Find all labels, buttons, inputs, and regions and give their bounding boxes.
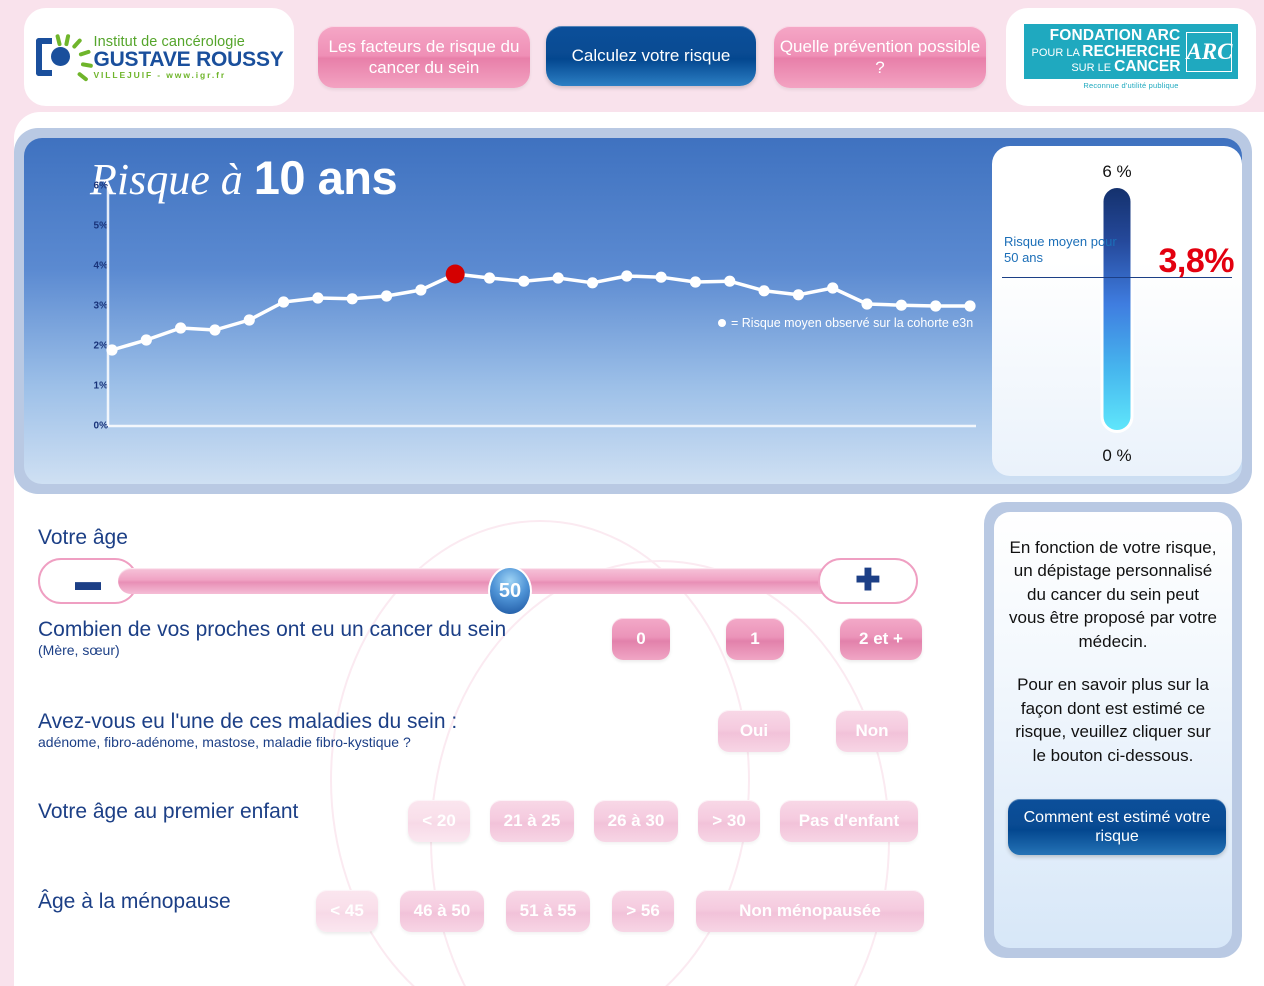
option-enfant-pas-denfant[interactable]: Pas d'enfant bbox=[780, 800, 918, 842]
option-menopause-non-menopausee[interactable]: Non ménopausée bbox=[696, 890, 924, 932]
arc-subtitle: Reconnue d'utilité publique bbox=[1024, 81, 1239, 90]
question-label-menopause: Âge à la ménopause bbox=[38, 890, 231, 914]
option-menopause-51-55[interactable]: 51 à 55 bbox=[506, 890, 590, 932]
chart-frame: Risque à 10 ans = Risque moyen observé s… bbox=[14, 128, 1252, 494]
arc-bow-icon: ARC bbox=[1186, 32, 1232, 72]
risk-chart-panel: Risque à 10 ans = Risque moyen observé s… bbox=[24, 138, 1242, 484]
option-maladies-oui[interactable]: Oui bbox=[718, 710, 790, 752]
option-menopause-plus-56[interactable]: > 56 bbox=[612, 890, 674, 932]
question-sub-maladies: adénome, fibro-adénome, mastose, maladie… bbox=[38, 734, 457, 750]
igr-line-1: Institut de cancérologie bbox=[93, 35, 283, 50]
arc-line-3-small: SUR LE bbox=[1071, 62, 1111, 74]
option-maladies-non[interactable]: Non bbox=[836, 710, 908, 752]
igr-logo-icon bbox=[34, 34, 86, 80]
question-label-proches: Combien de vos proches ont eu un cancer … bbox=[38, 618, 506, 642]
tab-quelle-prevention[interactable]: Quelle prévention possible ? bbox=[774, 26, 986, 88]
options-maladies: Oui Non bbox=[718, 710, 908, 752]
age-slider-thumb[interactable]: 50 bbox=[488, 566, 532, 616]
comment-est-estime-button[interactable]: Comment est estimé votre risque bbox=[1008, 799, 1226, 855]
gauge-caption: Risque moyen pour 50 ans bbox=[1004, 234, 1124, 267]
arc-line-3-big: CANCER bbox=[1114, 58, 1180, 75]
option-enfant-21-25[interactable]: 21 à 25 bbox=[490, 800, 574, 842]
option-enfant-moins-20[interactable]: < 20 bbox=[408, 800, 470, 842]
risk-form: Votre âge ▬ 50 ✚ Combien de vos proches … bbox=[14, 498, 964, 968]
plus-icon: ✚ bbox=[855, 566, 880, 596]
logo-institut-gustave-roussy[interactable]: Institut de cancérologie GUSTAVE ROUSSY … bbox=[24, 8, 294, 106]
options-premier-enfant: < 20 21 à 25 26 à 30 > 30 Pas d'enfant bbox=[408, 800, 918, 842]
option-enfant-26-30[interactable]: 26 à 30 bbox=[594, 800, 678, 842]
info-frame: En fonction de votre risque, un dépistag… bbox=[984, 502, 1242, 958]
gauge-max-label: 6 % bbox=[992, 162, 1242, 182]
option-proches-2[interactable]: 2 et + bbox=[840, 618, 922, 660]
header: Institut de cancérologie GUSTAVE ROUSSY … bbox=[0, 0, 1264, 112]
question-text-maladies: Avez-vous eu l'une de ces maladies du se… bbox=[38, 710, 457, 750]
gauge-bar bbox=[1104, 188, 1131, 430]
tab-calculez-votre-risque[interactable]: Calculez votre risque bbox=[546, 26, 756, 86]
option-proches-1[interactable]: 1 bbox=[726, 618, 784, 660]
options-proches: 0 1 2 et + bbox=[612, 618, 922, 660]
arc-line-2-big: RECHERCHE bbox=[1082, 43, 1180, 60]
options-menopause: < 45 46 à 50 51 à 55 > 56 Non ménopausée bbox=[316, 890, 924, 932]
question-text-premier-enfant: Votre âge au premier enfant bbox=[38, 800, 298, 824]
arc-logo-box: FONDATION ARC POUR LA RECHERCHE SUR LE C… bbox=[1024, 24, 1239, 79]
option-menopause-moins-45[interactable]: < 45 bbox=[316, 890, 378, 932]
age-slider-track[interactable]: 50 bbox=[118, 568, 838, 594]
option-enfant-plus-30[interactable]: > 30 bbox=[698, 800, 760, 842]
question-text-menopause: Âge à la ménopause bbox=[38, 890, 231, 914]
chart-plot bbox=[24, 138, 984, 484]
tab-facteurs-de-risque[interactable]: Les facteurs de risque du cancer du sein bbox=[318, 26, 530, 88]
arc-line-3: SUR LE CANCER bbox=[1032, 59, 1181, 75]
option-proches-0[interactable]: 0 bbox=[612, 618, 670, 660]
risk-gauge-card: 6 % Risque moyen pour 50 ans 3,8% 0 % bbox=[992, 146, 1242, 476]
arc-line-2-small: POUR LA bbox=[1032, 47, 1080, 59]
app-root: Institut de cancérologie GUSTAVE ROUSSY … bbox=[0, 0, 1264, 986]
question-label-premier-enfant: Votre âge au premier enfant bbox=[38, 800, 298, 824]
info-panel: En fonction de votre risque, un dépistag… bbox=[994, 512, 1232, 948]
arc-line-1: FONDATION ARC bbox=[1032, 28, 1181, 44]
logo-fondation-arc[interactable]: FONDATION ARC POUR LA RECHERCHE SUR LE C… bbox=[1006, 8, 1256, 106]
igr-line-3: VILLEJUIF - www.igr.fr bbox=[93, 71, 283, 80]
minus-icon: ▬ bbox=[75, 568, 101, 594]
gauge-min-label: 0 % bbox=[992, 446, 1242, 466]
arc-line-2: POUR LA RECHERCHE bbox=[1032, 44, 1181, 60]
question-text-proches: Combien de vos proches ont eu un cancer … bbox=[38, 618, 506, 658]
question-label-maladies: Avez-vous eu l'une de ces maladies du se… bbox=[38, 710, 457, 734]
age-slider-label: Votre âge bbox=[38, 526, 128, 550]
option-menopause-46-50[interactable]: 46 à 50 bbox=[400, 890, 484, 932]
igr-line-2: GUSTAVE ROUSSY bbox=[93, 49, 283, 70]
age-slider-row: ▬ 50 ✚ bbox=[38, 558, 918, 604]
info-paragraph-2: Pour en savoir plus sur la façon dont es… bbox=[1008, 673, 1218, 767]
info-paragraph-1: En fonction de votre risque, un dépistag… bbox=[1008, 536, 1218, 653]
question-sub-proches: (Mère, sœur) bbox=[38, 642, 506, 658]
age-increment-button[interactable]: ✚ bbox=[818, 558, 918, 604]
gauge-value: 3,8% bbox=[1159, 242, 1235, 281]
